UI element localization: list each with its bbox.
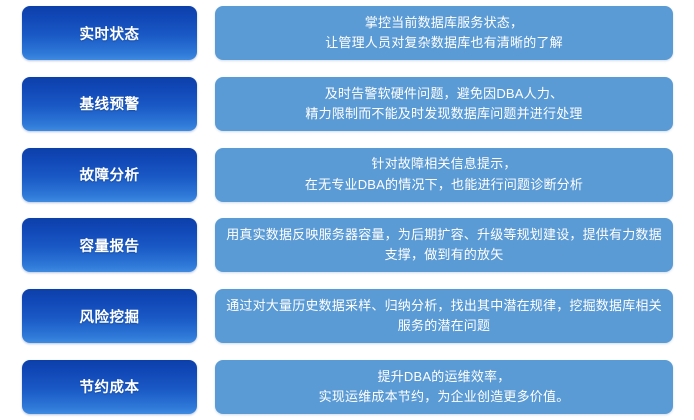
feature-description-text: 用真实数据反映服务器容量，为后期扩容、升级等规划建设，提供有力数据支撑，做到有的… [223, 225, 665, 265]
feature-label-baseline-alert[interactable]: 基线预警 [22, 77, 197, 131]
feature-description-panel-realtime-status: 掌控当前数据库服务状态， 让管理人员对复杂数据库也有清晰的了解 [215, 6, 673, 60]
feature-description-panel-risk-mining: 通过对大量历史数据采样、归纳分析，找出其中潜在规律，挖掘数据库相关服务的潜在问题 [215, 289, 673, 343]
feature-label-capacity-report[interactable]: 容量报告 [22, 218, 197, 272]
feature-row: 故障分析 针对故障相关信息提示， 在无专业DBA的情况下，也能进行问题诊断分析 [22, 148, 673, 202]
feature-label-text: 实时状态 [80, 23, 140, 44]
feature-label-cost-saving[interactable]: 节约成本 [22, 360, 197, 414]
feature-row: 容量报告 用真实数据反映服务器容量，为后期扩容、升级等规划建设，提供有力数据支撑… [22, 218, 673, 272]
feature-description-text: 及时告警软硬件问题，避免因DBA人力、 精力限制而不能及时发现数据库问题并进行处… [305, 84, 582, 124]
feature-description-panel-baseline-alert: 及时告警软硬件问题，避免因DBA人力、 精力限制而不能及时发现数据库问题并进行处… [215, 77, 673, 131]
feature-description-text: 提升DBA的运维效率， 实现运维成本节约，为企业创造更多价值。 [319, 367, 570, 407]
feature-label-risk-mining[interactable]: 风险挖掘 [22, 289, 197, 343]
feature-description-panel-cost-saving: 提升DBA的运维效率， 实现运维成本节约，为企业创造更多价值。 [215, 360, 673, 414]
feature-board: 实时状态 掌控当前数据库服务状态， 让管理人员对复杂数据库也有清晰的了解 基线预… [0, 0, 694, 420]
feature-description-panel-capacity-report: 用真实数据反映服务器容量，为后期扩容、升级等规划建设，提供有力数据支撑，做到有的… [215, 218, 673, 272]
feature-row: 基线预警 及时告警软硬件问题，避免因DBA人力、 精力限制而不能及时发现数据库问… [22, 77, 673, 131]
row-spacer [197, 218, 215, 272]
feature-label-fault-analysis[interactable]: 故障分析 [22, 148, 197, 202]
feature-row: 实时状态 掌控当前数据库服务状态， 让管理人员对复杂数据库也有清晰的了解 [22, 6, 673, 60]
feature-row: 节约成本 提升DBA的运维效率， 实现运维成本节约，为企业创造更多价值。 [22, 360, 673, 414]
row-spacer [197, 360, 215, 414]
row-spacer [197, 77, 215, 131]
row-spacer [197, 6, 215, 60]
feature-label-text: 风险挖掘 [80, 306, 140, 327]
feature-description-text: 通过对大量历史数据采样、归纳分析，找出其中潜在规律，挖掘数据库相关服务的潜在问题 [223, 296, 665, 336]
feature-label-realtime-status[interactable]: 实时状态 [22, 6, 197, 60]
feature-description-text: 针对故障相关信息提示， 在无专业DBA的情况下，也能进行问题诊断分析 [305, 154, 583, 194]
row-spacer [197, 289, 215, 343]
row-spacer [197, 148, 215, 202]
feature-label-text: 基线预警 [80, 93, 140, 114]
feature-description-panel-fault-analysis: 针对故障相关信息提示， 在无专业DBA的情况下，也能进行问题诊断分析 [215, 148, 673, 202]
feature-label-text: 故障分析 [80, 164, 140, 185]
feature-row: 风险挖掘 通过对大量历史数据采样、归纳分析，找出其中潜在规律，挖掘数据库相关服务… [22, 289, 673, 343]
feature-label-text: 容量报告 [80, 235, 140, 256]
feature-description-text: 掌控当前数据库服务状态， 让管理人员对复杂数据库也有清晰的了解 [325, 13, 563, 53]
feature-label-text: 节约成本 [80, 376, 140, 397]
